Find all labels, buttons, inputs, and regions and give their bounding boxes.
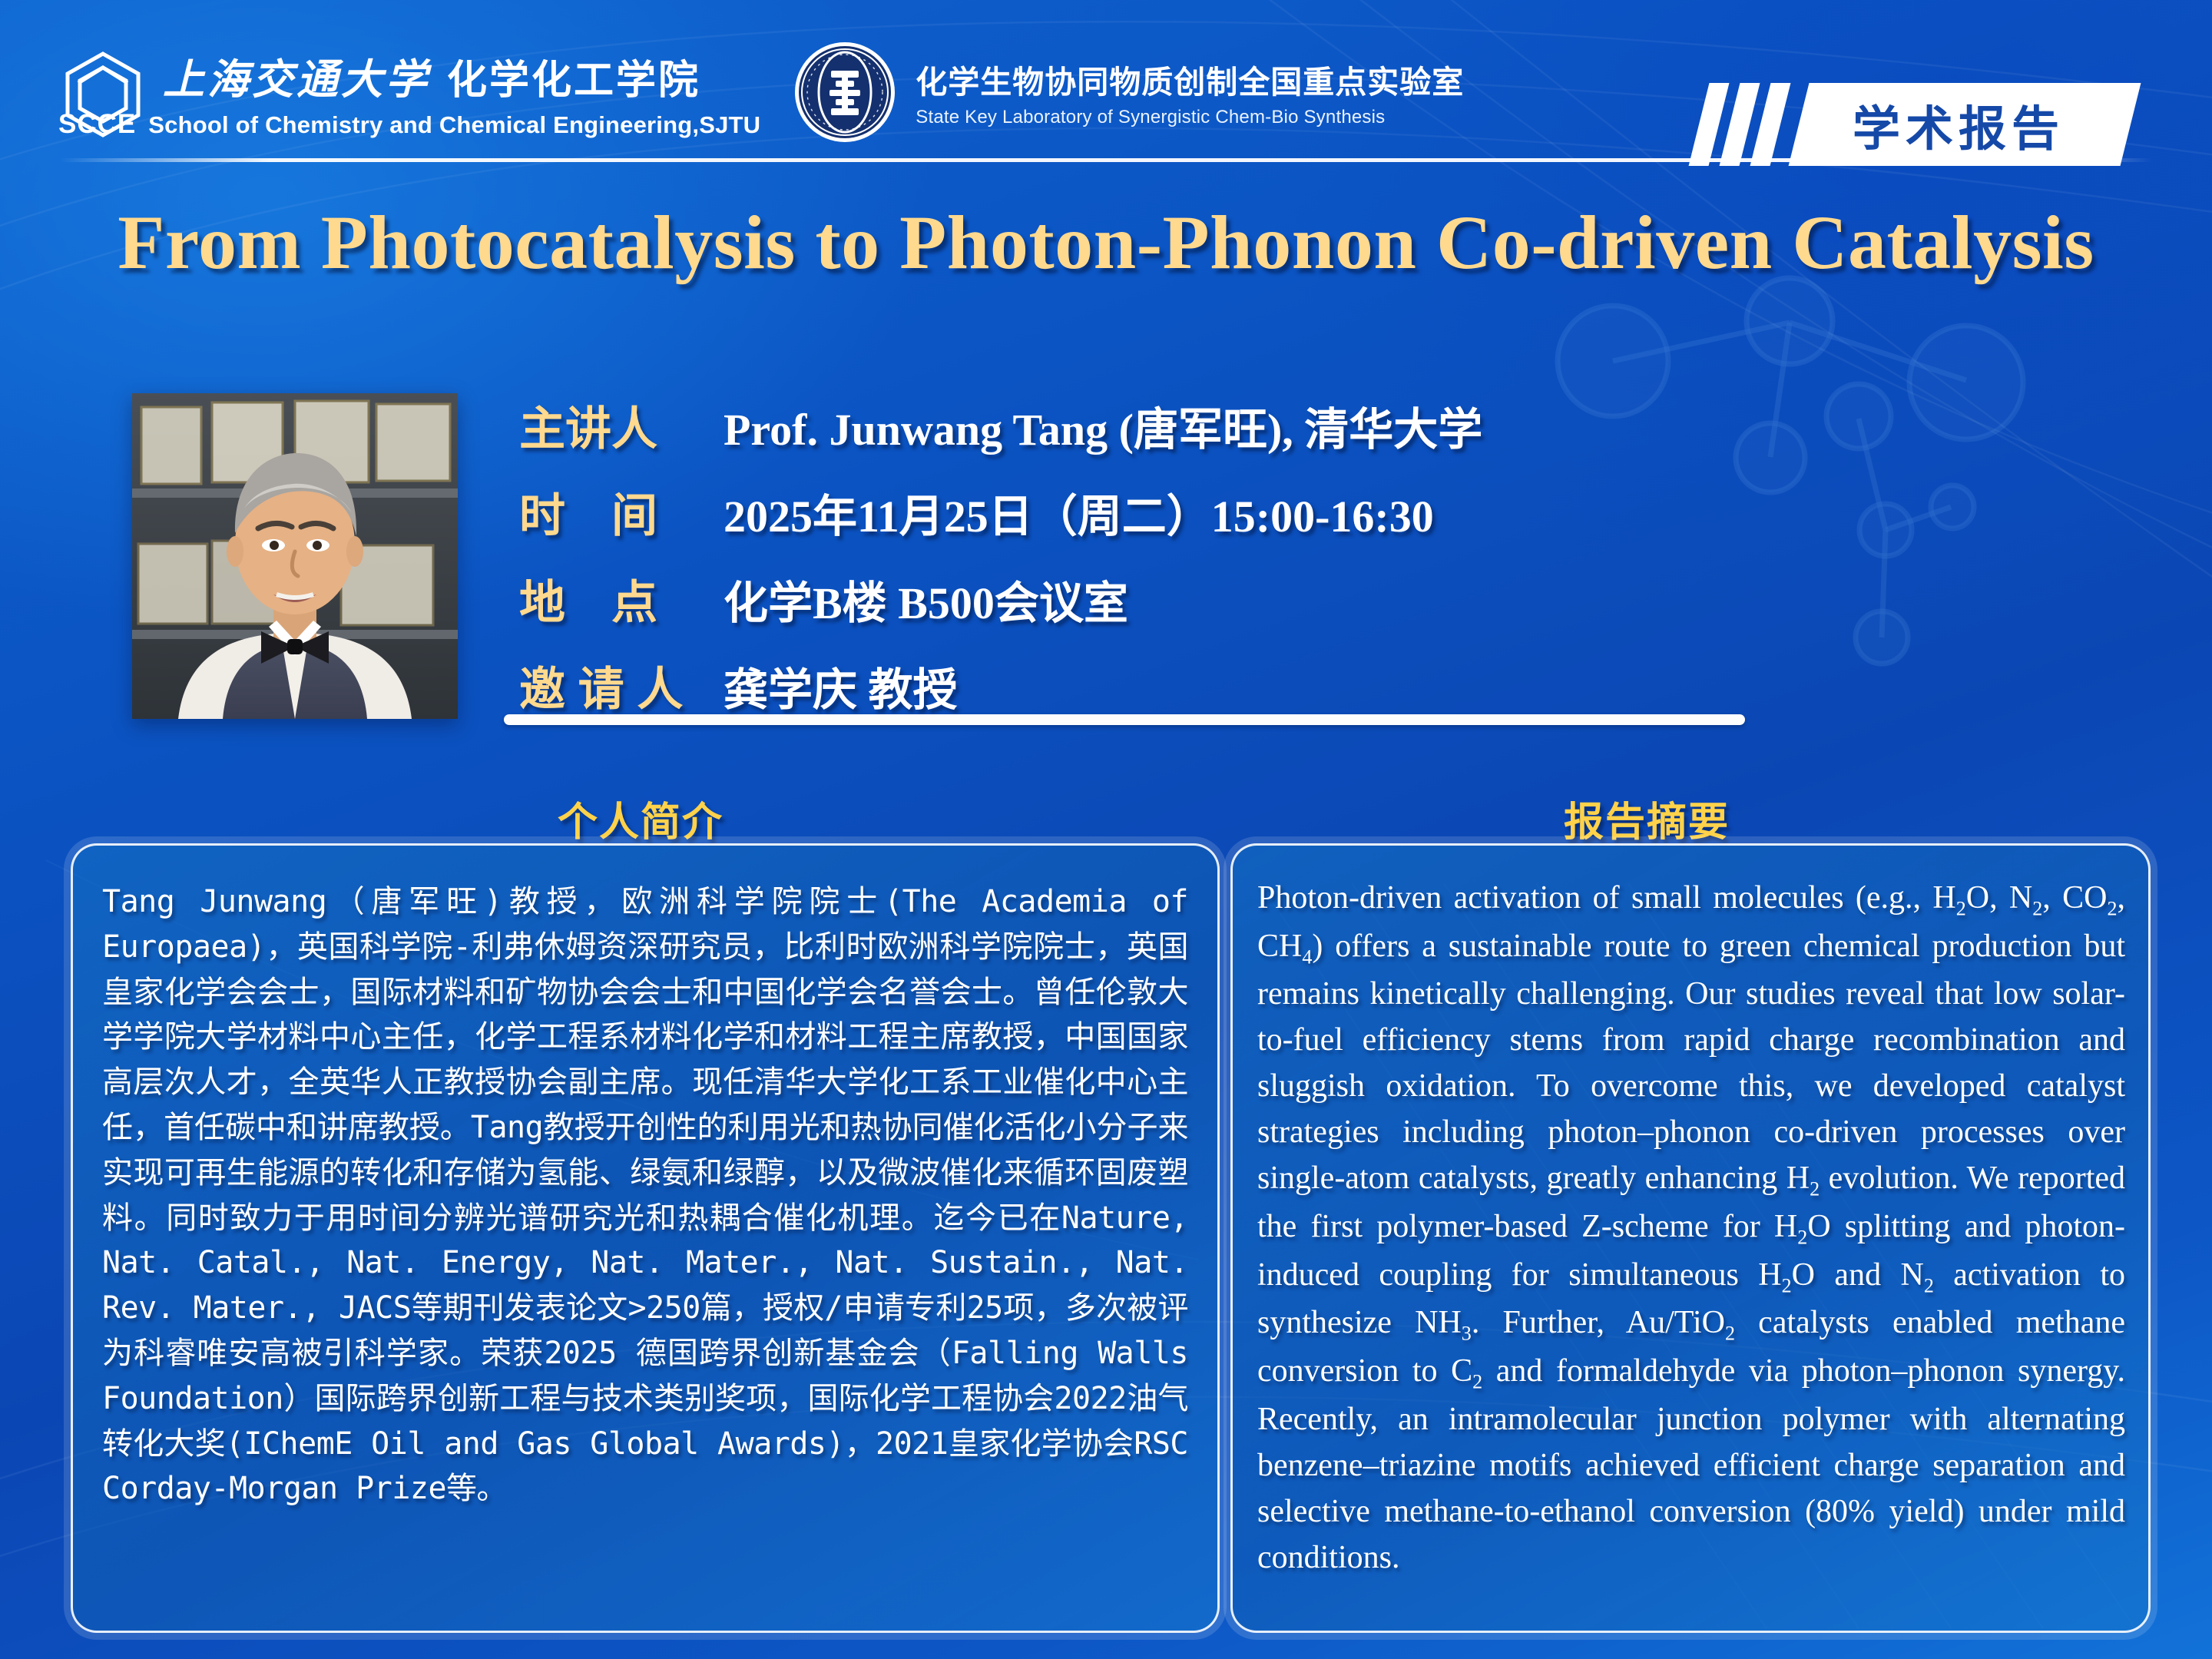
lab-chinese-name: 化学生物协同物质创制全国重点实验室 — [916, 56, 1464, 102]
header-divider — [60, 158, 2152, 162]
detail-label-venue: 地 点 — [519, 565, 724, 632]
detail-row-venue: 地 点 化学B楼 B500会议室 — [519, 565, 1748, 632]
detail-row-time: 时 间 2025年11月25日（周二）15:00-16:30 — [519, 478, 1748, 545]
detail-value-venue: 化学B楼 B500会议室 — [724, 567, 1128, 631]
scce-full-name: School of Chemistry and Chemical Enginee… — [148, 111, 760, 139]
header-logos: 上海交通大学 化学化工学院 SCCE School of Chemistry a… — [60, 40, 1464, 144]
detail-label-time: 时 间 — [519, 478, 724, 545]
abstract-text: Photon-driven activation of small molecu… — [1233, 846, 2148, 1596]
sjtu-wordmark: 上海交通大学 化学化工学院 SCCE School of Chemistry a… — [163, 45, 760, 140]
scce-abbreviation: SCCE — [58, 109, 136, 140]
seminar-poster: 上海交通大学 化学化工学院 SCCE School of Chemistry a… — [0, 0, 2212, 1659]
avatar — [132, 393, 458, 719]
poster-header: 上海交通大学 化学化工学院 SCCE School of Chemistry a… — [0, 0, 2212, 171]
details-divider — [504, 714, 1745, 725]
bio-section-heading: 个人简介 — [558, 790, 724, 847]
lab-wordmark: 化学生物协同物质创制全国重点实验室 State Key Laboratory o… — [916, 56, 1464, 128]
page-title: From Photocatalysis to Photon-Phonon Co-… — [0, 198, 2212, 286]
abstract-section-heading: 报告摘要 — [1564, 790, 1730, 847]
badge-stripe-bars — [1693, 83, 1799, 166]
detail-row-speaker: 主讲人 Prof. Junwang Tang (唐军旺), 清华大学 — [519, 392, 1748, 459]
detail-value-time: 2025年11月25日（周二）15:00-16:30 — [724, 480, 1434, 545]
speaker-portrait-image — [132, 393, 458, 719]
sjtu-english-name: SCCE School of Chemistry and Chemical En… — [58, 109, 760, 140]
state-key-lab-logo: 化学生物协同物质创制全国重点实验室 State Key Laboratory o… — [793, 40, 1464, 144]
state-key-lab-seal-icon — [793, 40, 897, 144]
detail-value-host: 龚学庆 教授 — [724, 654, 958, 718]
biography-text: Tang Junwang（唐军旺)教授，欧洲科学院院士(The Academia… — [73, 846, 1217, 1527]
detail-row-host: 邀 请 人 龚学庆 教授 — [519, 652, 1748, 719]
badge-plate: 学术报告 — [1789, 83, 2141, 166]
abstract-panel: Photon-driven activation of small molecu… — [1230, 843, 2151, 1633]
lab-english-name: State Key Laboratory of Synergistic Chem… — [916, 107, 1464, 128]
detail-label-speaker: 主讲人 — [519, 392, 724, 459]
sjtu-chinese-name: 上海交通大学 化学化工学院 — [163, 45, 760, 106]
academic-report-badge: 学术报告 — [1693, 83, 2131, 166]
biography-panel: Tang Junwang（唐军旺)教授，欧洲科学院院士(The Academia… — [71, 843, 1220, 1633]
detail-value-speaker: Prof. Junwang Tang (唐军旺), 清华大学 — [724, 393, 1482, 458]
sjtu-scce-logo: 上海交通大学 化学化工学院 SCCE School of Chemistry a… — [60, 45, 760, 140]
seminar-details: 主讲人 Prof. Junwang Tang (唐军旺), 清华大学 时 间 2… — [519, 392, 1748, 739]
badge-label: 学术报告 — [1853, 90, 2065, 159]
sjtu-school-cn: 化学化工学院 — [447, 48, 700, 105]
sjtu-university-cn: 上海交通大学 — [163, 45, 430, 106]
detail-label-host: 邀 请 人 — [519, 652, 724, 719]
